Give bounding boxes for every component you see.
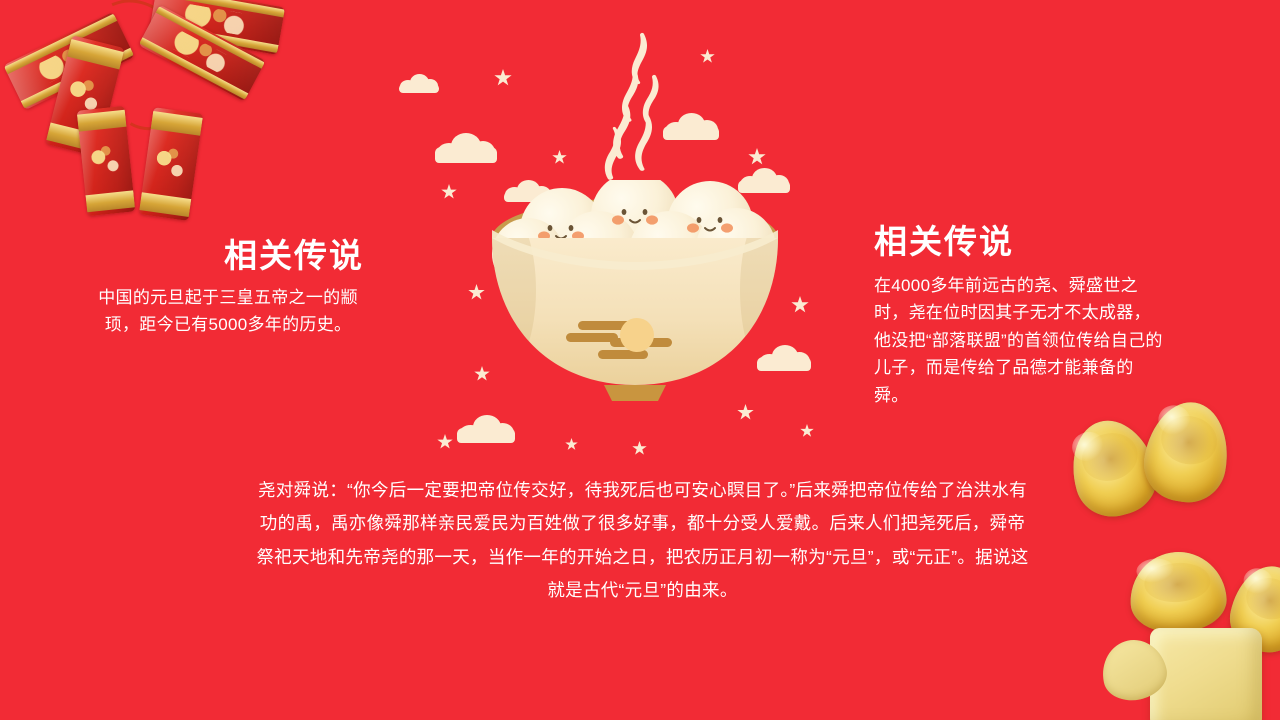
right-text-block: 相关传说 在4000多年前远古的尧、舜盛世之时，尧在位时因其子无才不太成器，他没… <box>874 222 1164 409</box>
right-block-title: 相关传说 <box>874 222 1164 262</box>
star-icon <box>437 434 453 450</box>
star-icon <box>552 150 567 165</box>
cloud-icon <box>399 74 439 93</box>
star-icon <box>748 148 766 166</box>
left-text-block: 相关传说 中国的元旦起于三皇五帝之一的颛顼，距今已有5000多年的历史。 <box>92 236 364 339</box>
bottom-text-block: 尧对舜说：“你今后一定要把帝位传交好，待我死后也可安心瞑目了。”后来舜把帝位传给… <box>190 474 1095 607</box>
star-icon <box>700 49 715 64</box>
star-icon <box>565 438 578 451</box>
left-block-title: 相关传说 <box>92 236 364 276</box>
steam-illustration <box>600 30 690 190</box>
bottom-line: 就是古代“元旦”的由来。 <box>190 574 1095 607</box>
right-block-body: 在4000多年前远古的尧、舜盛世之时，尧在位时因其子无才不太成器，他没把“部落联… <box>874 272 1164 410</box>
tangyuan-bowl-illustration <box>470 180 800 435</box>
cloud-icon <box>435 133 497 163</box>
star-icon <box>800 424 814 438</box>
gold-ingot <box>1127 549 1228 636</box>
slide-canvas: 相关传说 中国的元旦起于三皇五帝之一的颛顼，距今已有5000多年的历史。 相关传… <box>0 0 1280 720</box>
bottom-line: 尧对舜说：“你今后一定要把帝位传交好，待我死后也可安心瞑目了。”后来舜把帝位传给… <box>190 474 1095 507</box>
bottom-line: 祭祀天地和先帝尧的那一天，当作一年的开始之日，把农历正月初一称为“元旦”，或“元… <box>190 541 1095 574</box>
star-icon <box>632 441 647 456</box>
left-block-body: 中国的元旦起于三皇五帝之一的颛顼，距今已有5000多年的历史。 <box>92 284 364 339</box>
firecrackers-illustration <box>0 0 304 227</box>
star-icon <box>494 69 512 87</box>
bottom-line: 功的禹，禹亦像舜那样亲民爱民为百姓做了很多好事，都十分受人爱戴。后来人们把尧死后… <box>190 507 1095 540</box>
star-icon <box>441 184 457 200</box>
